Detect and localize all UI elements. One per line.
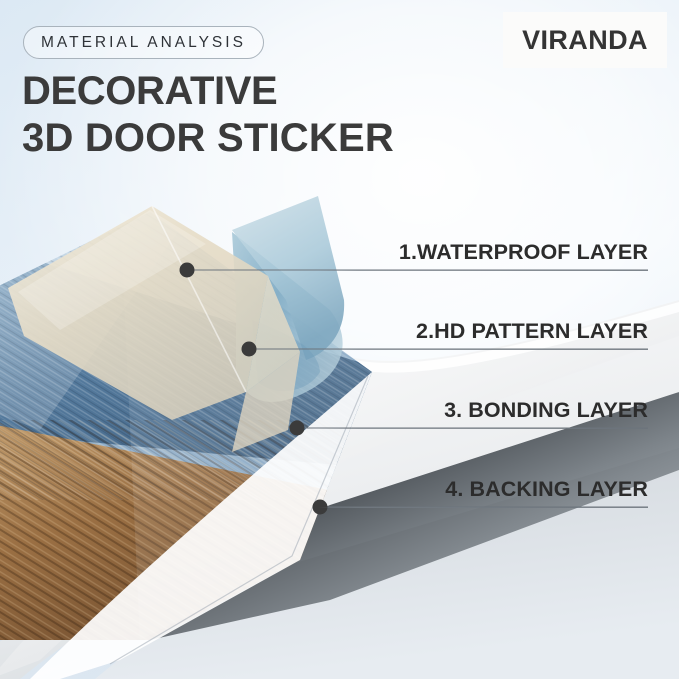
callout-label-4-text: 4. BACKING LAYER: [445, 477, 648, 501]
page-title-line-2: 3D DOOR STICKER: [22, 115, 394, 162]
callout-label-3: 3. BONDING LAYER: [318, 398, 648, 429]
callout-dot-2: [242, 342, 257, 357]
callout-label-2-text: 2.HD PATTERN LAYER: [416, 319, 648, 343]
callout-dot-3: [290, 421, 305, 436]
page-title-line-1: DECORATIVE: [22, 68, 394, 115]
callout-underline-1: [318, 270, 648, 271]
page-title: DECORATIVE 3D DOOR STICKER: [22, 68, 394, 162]
callout-underline-2: [318, 349, 648, 350]
eyebrow-label: MATERIAL ANALYSIS: [41, 34, 246, 52]
callout-underline-3: [318, 428, 648, 429]
eyebrow-badge: MATERIAL ANALYSIS: [23, 26, 264, 59]
callout-label-4: 4. BACKING LAYER: [318, 477, 648, 508]
callout-label-1: 1.WATERPROOF LAYER: [318, 240, 648, 271]
infographic-canvas: MATERIAL ANALYSIS DECORATIVE 3D DOOR STI…: [0, 0, 679, 679]
brand-name: VIRANDA: [522, 25, 648, 56]
callout-label-1-text: 1.WATERPROOF LAYER: [399, 240, 648, 264]
brand-logo: VIRANDA: [503, 12, 667, 68]
callout-dot-1: [180, 263, 195, 278]
callout-label-2: 2.HD PATTERN LAYER: [318, 319, 648, 350]
callout-label-3-text: 3. BONDING LAYER: [444, 398, 648, 422]
callout-underline-4: [318, 507, 648, 508]
